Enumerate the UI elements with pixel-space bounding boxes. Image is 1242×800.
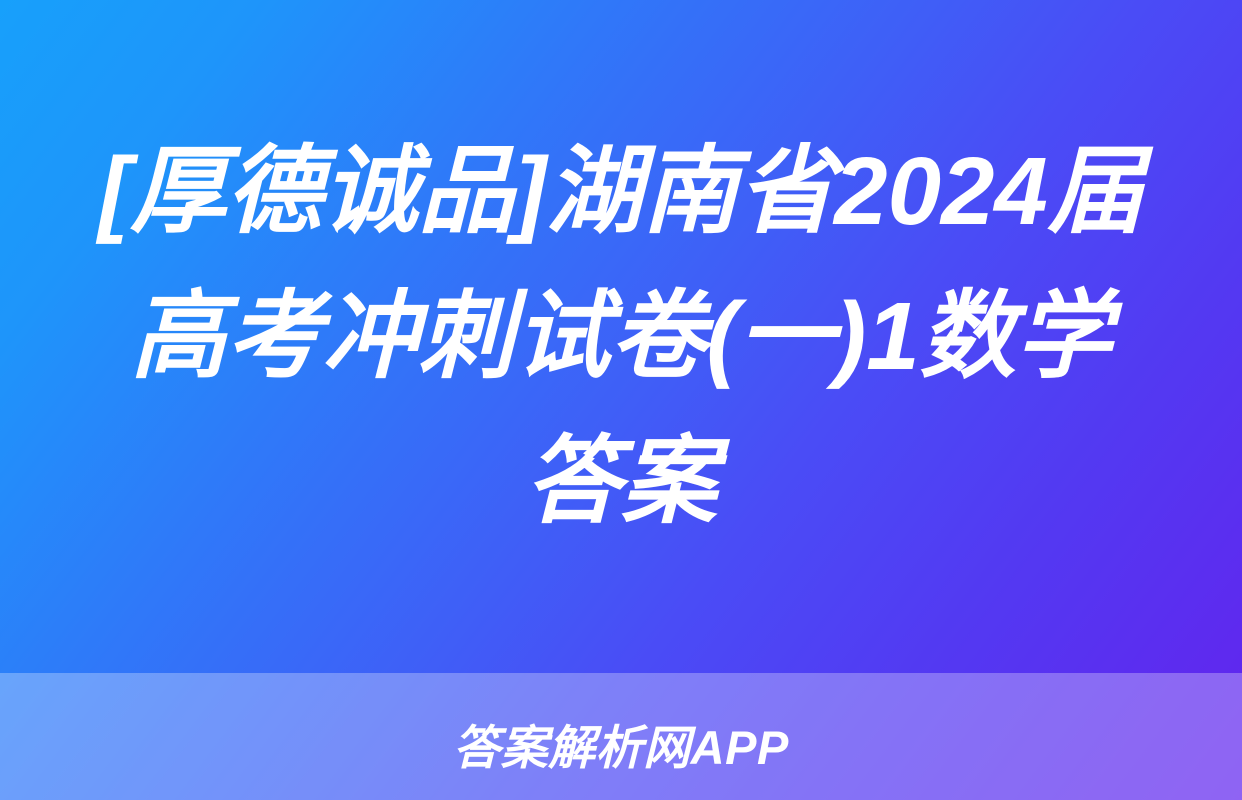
app-watermark-label: 答案解析网APP — [453, 724, 789, 771]
page-title: [厚德诚品]湖南省2024届高考冲刺试卷(一)1数学答案 — [86, 119, 1156, 554]
watermark-band: 答案解析网APP — [0, 673, 1242, 800]
poster-canvas: [厚德诚品]湖南省2024届高考冲刺试卷(一)1数学答案 答案解析网APP — [0, 0, 1242, 800]
title-block: [厚德诚品]湖南省2024届高考冲刺试卷(一)1数学答案 — [0, 0, 1242, 673]
